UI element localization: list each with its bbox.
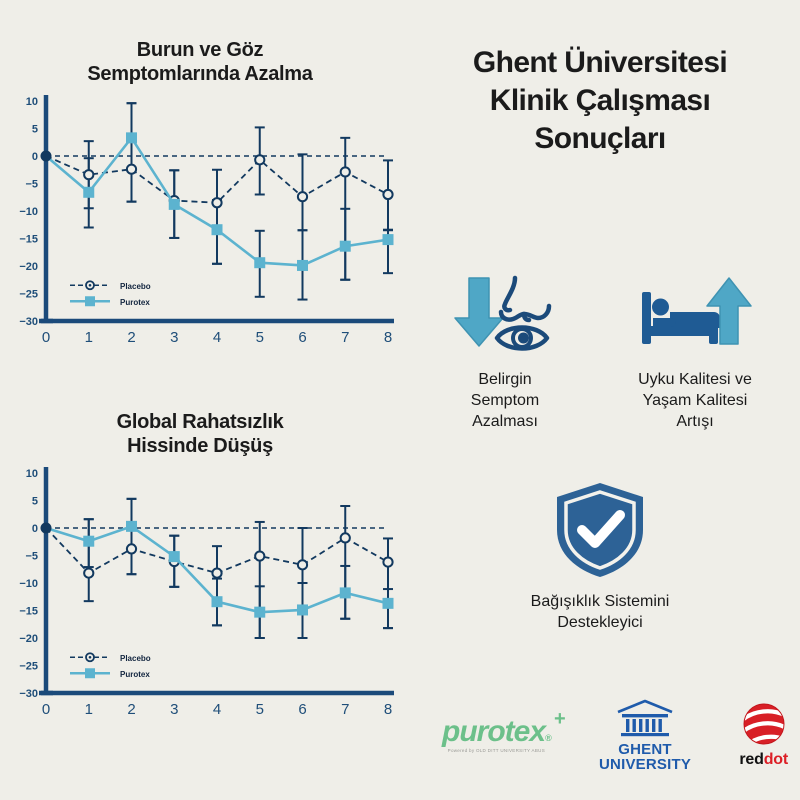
logo-row: purotex® + Powered by OLD DITT UNIVERSIT… bbox=[430, 690, 800, 780]
feature-2-line3: Artışı bbox=[638, 412, 752, 433]
eye-icon bbox=[497, 328, 547, 349]
chart-2-title-line1: Global Rahatsızlık bbox=[117, 411, 284, 433]
feature-immune-support-label: Bağışıklık Sistemini Destekleyici bbox=[531, 592, 670, 634]
infographic-page: Burun ve Göz Semptomlarında Azalma 1050−… bbox=[0, 0, 800, 800]
svg-text:3: 3 bbox=[170, 329, 178, 346]
page-title-line3: Sonuçları bbox=[400, 120, 800, 158]
svg-text:−10: −10 bbox=[19, 578, 38, 590]
feature-2-line1: Uyku Kalitesi ve bbox=[638, 370, 752, 391]
charts-column: Burun ve Göz Semptomlarında Azalma 1050−… bbox=[0, 0, 400, 800]
svg-text:1: 1 bbox=[85, 701, 93, 718]
feature-3-line1: Bağışıklık Sistemini bbox=[531, 592, 670, 613]
chart-1-title: Burun ve Göz Semptomlarında Azalma bbox=[0, 38, 400, 87]
down-arrow-nose-eye-icon bbox=[445, 272, 565, 358]
feature-2-line2: Yaşam Kalitesi bbox=[638, 391, 752, 412]
svg-text:Purotex: Purotex bbox=[120, 670, 150, 679]
svg-text:10: 10 bbox=[26, 96, 38, 108]
chart-block-discomfort: Global Rahatsızlık Hissinde Düşüş 1050−5… bbox=[0, 410, 400, 745]
svg-text:−25: −25 bbox=[19, 660, 38, 672]
svg-text:−30: −30 bbox=[19, 688, 38, 700]
bed-icon bbox=[642, 292, 720, 344]
svg-text:−25: −25 bbox=[19, 288, 38, 300]
svg-text:8: 8 bbox=[384, 329, 392, 346]
chart-2-plot: 1050−5−10−15−20−25−30012345678Time (Week… bbox=[0, 465, 400, 745]
reddot-sphere-icon bbox=[741, 701, 787, 747]
purotex-plus-icon: + bbox=[554, 709, 565, 729]
reddot-part2: dot bbox=[764, 751, 788, 768]
svg-text:4: 4 bbox=[213, 701, 221, 718]
down-arrow-icon bbox=[455, 278, 503, 346]
svg-text:−30: −30 bbox=[19, 316, 38, 328]
feature-1-line3: Azalması bbox=[471, 412, 539, 433]
ghent-wordmark: GHENT UNIVERSITY bbox=[599, 742, 691, 772]
feature-1-line1: Belirgin bbox=[471, 370, 539, 391]
feature-3-line2: Destekleyici bbox=[531, 613, 670, 634]
svg-text:5: 5 bbox=[32, 495, 38, 507]
svg-text:−5: −5 bbox=[25, 178, 38, 190]
chart-1-plot: 1050−5−10−15−20−25−30012345678Time (Week… bbox=[0, 93, 400, 373]
svg-text:0: 0 bbox=[32, 151, 38, 163]
svg-text:0: 0 bbox=[42, 329, 50, 346]
reddot-part1: red bbox=[739, 751, 763, 768]
feature-sleep-quality-label: Uyku Kalitesi ve Yaşam Kalitesi Artışı bbox=[638, 370, 752, 432]
svg-text:Placebo: Placebo bbox=[120, 654, 151, 663]
purotex-registered-mark: ® bbox=[545, 733, 551, 743]
svg-text:−20: −20 bbox=[19, 261, 38, 273]
svg-text:2: 2 bbox=[127, 701, 135, 718]
purotex-wordmark: purotex® + bbox=[442, 717, 551, 747]
nose-icon bbox=[501, 278, 549, 320]
chart-block-symptoms: Burun ve Göz Semptomlarında Azalma 1050−… bbox=[0, 38, 400, 373]
feature-immune-support: Bağışıklık Sistemini Destekleyici bbox=[400, 480, 800, 634]
svg-text:Placebo: Placebo bbox=[120, 282, 151, 291]
svg-text:7: 7 bbox=[341, 701, 349, 718]
svg-text:5: 5 bbox=[256, 701, 264, 718]
svg-text:6: 6 bbox=[298, 329, 306, 346]
svg-text:8: 8 bbox=[384, 701, 392, 718]
logo-reddot: reddot bbox=[739, 701, 788, 769]
ghent-temple-icon bbox=[614, 699, 676, 739]
page-title: Ghent Üniversitesi Klinik Çalışması Sonu… bbox=[400, 44, 800, 157]
svg-text:2: 2 bbox=[127, 329, 135, 346]
svg-text:0: 0 bbox=[42, 701, 50, 718]
page-title-line1: Ghent Üniversitesi bbox=[400, 44, 800, 82]
bed-sleep-up-arrow-icon bbox=[632, 272, 758, 358]
chart-1-title-line1: Burun ve Göz bbox=[137, 39, 263, 61]
svg-text:−10: −10 bbox=[19, 206, 38, 218]
logo-ghent-university: GHENT UNIVERSITY bbox=[599, 699, 691, 772]
svg-text:5: 5 bbox=[256, 329, 264, 346]
chart-2-title-line2: Hissinde Düşüş bbox=[30, 434, 370, 458]
logo-purotex: purotex® + Powered by OLD DITT UNIVERSIT… bbox=[442, 717, 551, 753]
svg-text:−15: −15 bbox=[19, 233, 38, 245]
purotex-word-text: purotex bbox=[442, 715, 545, 748]
feature-1-line2: Semptom bbox=[471, 391, 539, 412]
svg-text:5: 5 bbox=[32, 123, 38, 135]
svg-text:0: 0 bbox=[32, 523, 38, 535]
svg-text:7: 7 bbox=[341, 329, 349, 346]
feature-symptom-reduction-label: Belirgin Semptom Azalması bbox=[471, 370, 539, 432]
feature-row: Belirgin Semptom Azalması bbox=[410, 272, 790, 432]
svg-text:−5: −5 bbox=[25, 550, 38, 562]
svg-text:10: 10 bbox=[26, 468, 38, 480]
ghent-line1: GHENT bbox=[599, 742, 691, 757]
shield-check-icon bbox=[553, 480, 647, 580]
svg-text:1: 1 bbox=[85, 329, 93, 346]
content-column: Ghent Üniversitesi Klinik Çalışması Sonu… bbox=[400, 0, 800, 800]
svg-text:6: 6 bbox=[298, 701, 306, 718]
feature-symptom-reduction: Belirgin Semptom Azalması bbox=[418, 272, 593, 432]
purotex-subtitle: Powered by OLD DITT UNIVERSITY ABUS bbox=[442, 748, 551, 753]
chart-2-title: Global Rahatsızlık Hissinde Düşüş bbox=[0, 410, 400, 459]
svg-text:−20: −20 bbox=[19, 633, 38, 645]
ghent-line2: UNIVERSITY bbox=[599, 757, 691, 772]
chart-1-title-line2: Semptomlarında Azalma bbox=[30, 62, 370, 86]
svg-text:4: 4 bbox=[213, 329, 221, 346]
svg-text:Purotex: Purotex bbox=[120, 298, 150, 307]
feature-sleep-quality: Uyku Kalitesi ve Yaşam Kalitesi Artışı bbox=[608, 272, 783, 432]
svg-text:3: 3 bbox=[170, 701, 178, 718]
svg-text:−15: −15 bbox=[19, 605, 38, 617]
reddot-wordmark: reddot bbox=[739, 751, 788, 769]
page-title-line2: Klinik Çalışması bbox=[400, 82, 800, 120]
